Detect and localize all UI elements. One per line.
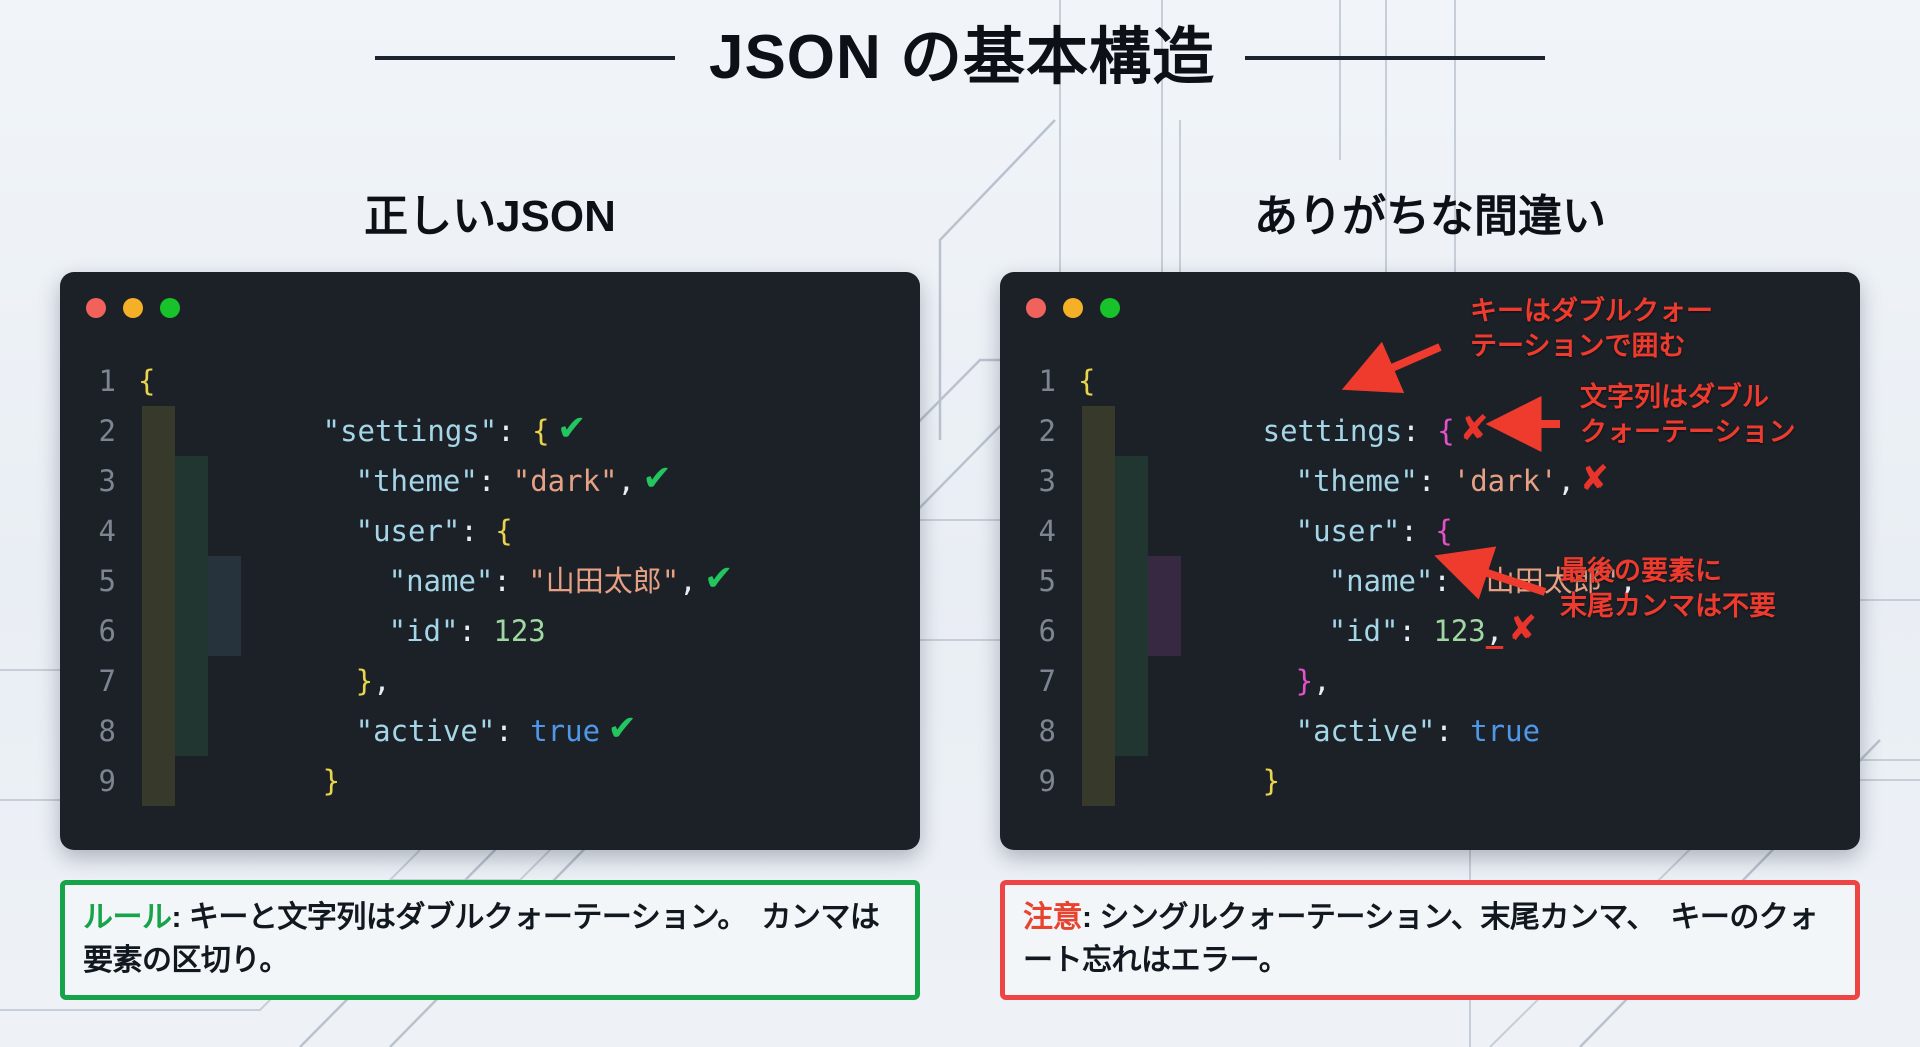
line-number: 5 (60, 556, 138, 606)
line-number: 1 (1000, 356, 1078, 406)
callout-rule: ルール: キーと文字列はダブルクォーテーション。 カンマは要素の区切り。 (60, 880, 920, 1000)
line-number: 7 (1000, 656, 1078, 706)
token-colon: : (458, 614, 493, 648)
line-number: 3 (1000, 456, 1078, 506)
cross-icon: ✘ (1583, 454, 1607, 500)
callout-warning-sep: : (1082, 901, 1099, 934)
close-dot-icon[interactable] (1026, 298, 1046, 318)
token-brace: } (323, 764, 340, 798)
line-number: 9 (60, 756, 138, 806)
token-comma: , (618, 464, 635, 498)
code-block-correct: 1 { 2 "settings": {✔ 3 "theme": "dark",✔… (60, 356, 920, 850)
title-row: JSON の基本構造 (0, 22, 1920, 93)
token-key: "id" (389, 614, 459, 648)
checkmark-icon: ✔ (610, 703, 634, 749)
annotation-string-quote: 文字列はダブル クォーテーション (1580, 380, 1850, 449)
token-string: "山田太郎" (528, 564, 679, 598)
checkmark-icon: ✔ (707, 553, 731, 599)
token-key: "id" (1329, 614, 1399, 648)
line-number: 8 (1000, 706, 1078, 756)
callout-warning: 注意: シングルクォーテーション、末尾カンマ、 キーのクォート忘れはエラー。 (1000, 880, 1860, 1000)
token-string: "dark" (513, 464, 618, 498)
title-rule-right (1245, 56, 1545, 60)
token-colon: : (495, 714, 530, 748)
close-dot-icon[interactable] (86, 298, 106, 318)
line-number: 2 (1000, 406, 1078, 456)
cross-icon: ✘ (1511, 604, 1535, 650)
window-controls (86, 298, 180, 318)
maximize-dot-icon[interactable] (160, 298, 180, 318)
heading-common-mistakes: ありがちな間違い (1000, 180, 1860, 244)
checkmark-icon: ✔ (645, 453, 669, 499)
code-panel-mistakes: 1 { 2 settings: {✘ 3 "theme": 'dark',✘ 4… (1000, 272, 1860, 850)
token-comma: , (1558, 464, 1575, 498)
token-comma: , (679, 564, 696, 598)
minimize-dot-icon[interactable] (1063, 298, 1083, 318)
page-title: JSON の基本構造 (709, 22, 1215, 93)
token-number: 123 (1433, 614, 1485, 648)
token-key: "active" (356, 714, 496, 748)
callout-rule-sep: : (172, 901, 189, 934)
line-number: 7 (60, 656, 138, 706)
minimize-dot-icon[interactable] (123, 298, 143, 318)
token-key: "active" (1296, 714, 1436, 748)
token-number: 123 (493, 614, 545, 648)
line-number: 1 (60, 356, 138, 406)
token-trailing-comma: , (1486, 614, 1503, 648)
line-number: 8 (60, 706, 138, 756)
line-number: 6 (60, 606, 138, 656)
callout-rule-tag: ルール (83, 901, 172, 934)
line-number: 9 (1000, 756, 1078, 806)
token-colon: : (1435, 714, 1470, 748)
line-number: 5 (1000, 556, 1078, 606)
title-rule-left (375, 56, 675, 60)
annotation-key-quote: キーはダブルクォー テーションで囲む (1470, 294, 1760, 363)
line-number: 3 (60, 456, 138, 506)
token-colon: : (1398, 614, 1433, 648)
window-controls (1026, 298, 1120, 318)
token-string-single-quoted: 'dark' (1453, 464, 1558, 498)
token-brace: } (1263, 764, 1280, 798)
line-number: 2 (60, 406, 138, 456)
callout-warning-tag: 注意 (1023, 901, 1082, 934)
line-number: 6 (1000, 606, 1078, 656)
maximize-dot-icon[interactable] (1100, 298, 1120, 318)
code-panel-correct: 1 { 2 "settings": {✔ 3 "theme": "dark",✔… (60, 272, 920, 850)
line-number: 4 (60, 506, 138, 556)
line-number: 4 (1000, 506, 1078, 556)
callout-rule-body: キーと文字列はダブルクォーテーション。 カンマは要素の区切り。 (83, 901, 879, 977)
token-boolean: true (1470, 714, 1540, 748)
token-boolean: true (530, 714, 600, 748)
slide-root: JSON の基本構造 正しいJSON ありがちな間違い 1 { 2 "setti… (0, 0, 1920, 1047)
callout-warning-body: シングルクォーテーション、末尾カンマ、 キーのクォート忘れはエラー。 (1023, 901, 1818, 977)
annotation-trailing-comma: 最後の要素に 末尾カンマは不要 (1560, 554, 1840, 623)
heading-correct-json: 正しいJSON (60, 180, 920, 244)
